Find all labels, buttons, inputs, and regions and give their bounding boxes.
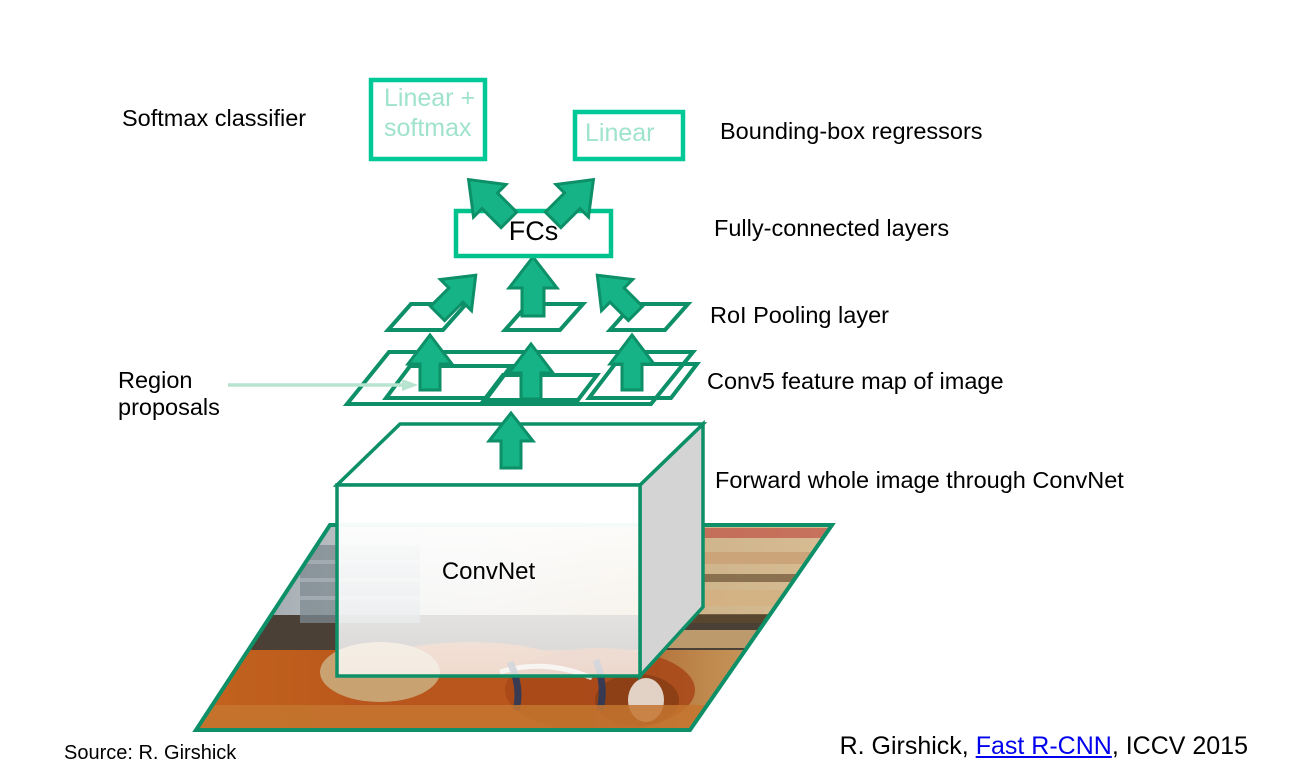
linear-label: Linear	[585, 119, 677, 149]
linear-softmax-label: Linear + softmax	[384, 84, 484, 143]
arrow-up-left-icon-fcs-right	[582, 260, 651, 329]
roi-to-fcs-arrows	[422, 257, 651, 329]
forward-whole-image-label: Forward whole image through ConvNet	[715, 467, 1124, 494]
convnet-label: ConvNet	[337, 558, 640, 586]
fcs-label: FCs	[456, 216, 611, 248]
citation: R. Girshick, Fast R-CNN, ICCV 2015	[840, 732, 1248, 761]
conv5-feature-map-label: Conv5 feature map of image	[707, 368, 1004, 395]
citation-prefix: R. Girshick,	[840, 732, 976, 760]
arrow-up-icon-fcs-middle	[509, 257, 557, 316]
softmax-classifier-label: Softmax classifier	[122, 105, 306, 132]
citation-suffix: , ICCV 2015	[1112, 732, 1248, 760]
roi-pooling-layer-label: RoI Pooling layer	[710, 302, 889, 329]
source-label: Source: R. Girshick	[64, 742, 236, 765]
arrow-up-right-icon-fcs-left	[422, 260, 491, 329]
fast-rcnn-link[interactable]: Fast R-CNN	[976, 732, 1112, 760]
slide-canvas: Linear + softmax Linear FCs ConvNet Soft…	[0, 0, 1300, 769]
bounding-box-regressors-label: Bounding-box regressors	[720, 118, 983, 145]
fully-connected-layers-label: Fully-connected layers	[714, 215, 949, 242]
region-proposals-label: Region proposals	[118, 367, 220, 421]
